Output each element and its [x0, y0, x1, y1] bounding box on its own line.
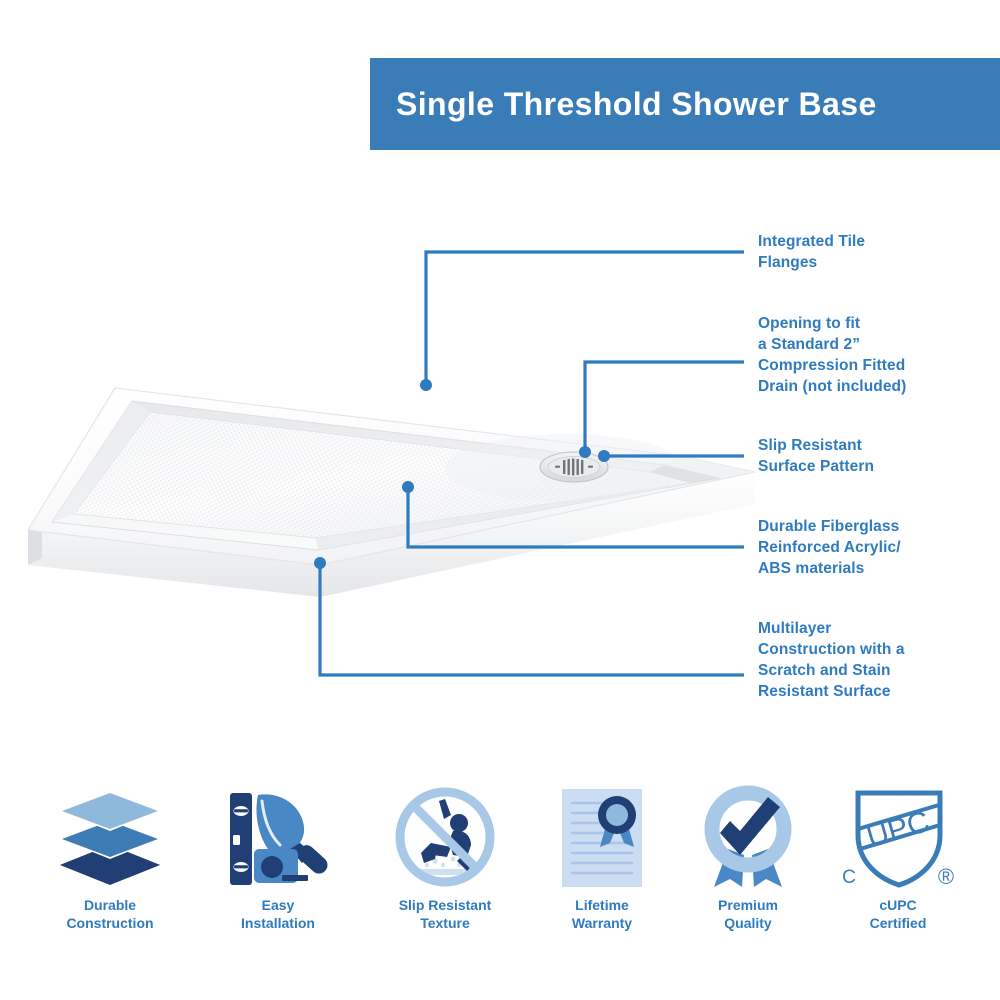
callout-durable-materials: Durable Fiberglass Reinforced Acrylic/ A… [758, 516, 901, 579]
feature-label-line: Construction [27, 914, 193, 932]
checkmark-ribbon-icon [696, 785, 800, 889]
stacked-layers-icon [54, 785, 166, 889]
callout-line: Multilayer [758, 618, 905, 639]
icon-wrap [195, 778, 361, 896]
certificate-award-icon [554, 785, 650, 889]
callout-line: Scratch and Stain [758, 660, 905, 681]
upc-shield-icon: UPC C ® [840, 783, 956, 891]
callout-line: Surface Pattern [758, 456, 874, 477]
icon-wrap: UPC C ® [815, 778, 981, 896]
feature-durable-construction: Durable Construction [27, 778, 193, 932]
feature-cupc-certified: UPC C ® cUPC Certified [815, 778, 981, 932]
shield-left-text: C [842, 867, 856, 888]
shield-right-text: ® [938, 864, 954, 889]
callout-line: ABS materials [758, 558, 901, 579]
callout-slip-resistant-surface-pattern: Slip Resistant Surface Pattern [758, 435, 874, 477]
shield-main-text: UPC [863, 805, 933, 854]
feature-label: Premium Quality [665, 896, 831, 932]
feature-label-line: Premium [665, 896, 831, 914]
feature-label: Slip Resistant Texture [362, 896, 528, 932]
icon-wrap [362, 778, 528, 896]
callout-integrated-tile-flanges: Integrated Tile Flanges [758, 231, 865, 273]
icon-wrap [27, 778, 193, 896]
feature-label-line: Lifetime [519, 896, 685, 914]
no-slip-prohibition-icon [391, 785, 499, 889]
feature-label: Lifetime Warranty [519, 896, 685, 932]
callout-line: Reinforced Acrylic/ [758, 537, 901, 558]
callout-line: Compression Fitted [758, 355, 906, 376]
feature-label-line: cUPC [815, 896, 981, 914]
feature-lifetime-warranty: Lifetime Warranty [519, 778, 685, 932]
callout-line: Resistant Surface [758, 681, 905, 702]
icon-wrap [665, 778, 831, 896]
feature-label: cUPC Certified [815, 896, 981, 932]
callout-drain-opening: Opening to fit a Standard 2” Compression… [758, 313, 906, 397]
feature-premium-quality: Premium Quality [665, 778, 831, 932]
callout-line: Flanges [758, 252, 865, 273]
feature-label: Easy Installation [195, 896, 361, 932]
feature-label: Durable Construction [27, 896, 193, 932]
callout-multilayer-construction: Multilayer Construction with a Scratch a… [758, 618, 905, 702]
feature-label-line: Quality [665, 914, 831, 932]
icon-wrap [519, 778, 685, 896]
callout-line: Durable Fiberglass [758, 516, 901, 537]
callout-line: Drain (not included) [758, 376, 906, 397]
level-trowel-tape-measure-icon [224, 785, 332, 889]
callout-line: a Standard 2” [758, 334, 906, 355]
feature-label-line: Slip Resistant [362, 896, 528, 914]
feature-easy-installation: Easy Installation [195, 778, 361, 932]
feature-label-line: Warranty [519, 914, 685, 932]
feature-label-line: Installation [195, 914, 361, 932]
callout-line: Opening to fit [758, 313, 906, 334]
infographic-canvas: Single Threshold Shower Base [0, 0, 1000, 1000]
feature-label-line: Certified [815, 914, 981, 932]
feature-label-line: Easy [195, 896, 361, 914]
feature-slip-resistant-texture: Slip Resistant Texture [362, 778, 528, 932]
callout-line: Slip Resistant [758, 435, 874, 456]
callout-line: Integrated Tile [758, 231, 865, 252]
callout-line: Construction with a [758, 639, 905, 660]
feature-label-line: Durable [27, 896, 193, 914]
feature-row: Durable Construction [0, 778, 1000, 968]
feature-label-line: Texture [362, 914, 528, 932]
